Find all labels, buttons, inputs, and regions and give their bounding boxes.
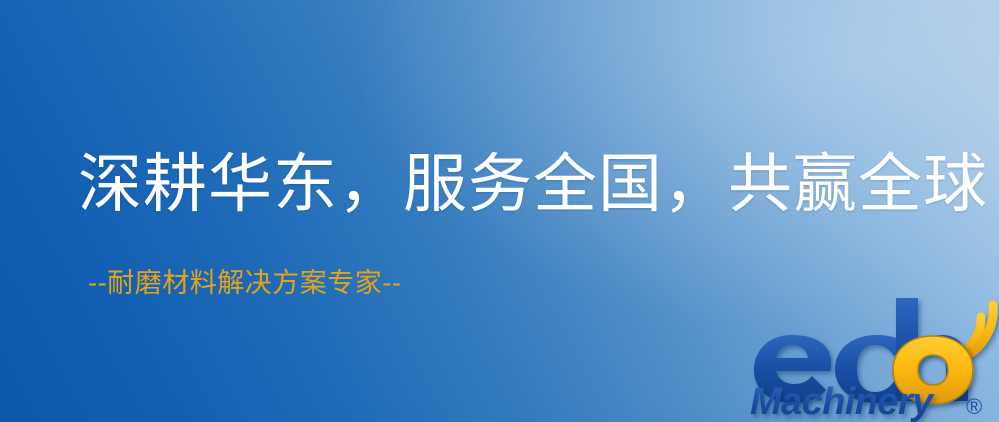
banner-headline: 深耕华东，服务全国，共赢全球	[78, 152, 940, 219]
hero-banner: 深耕华东，服务全国，共赢全球 --耐磨材料解决方案专家--	[0, 0, 999, 422]
registered-trademark-icon: ®	[966, 394, 982, 419]
logo-wordmark-machinery: Machinery	[750, 381, 935, 422]
banner-subtitle: --耐磨材料解决方案专家--	[88, 270, 402, 297]
echo-machinery-logo: Machinery ®	[748, 296, 999, 422]
